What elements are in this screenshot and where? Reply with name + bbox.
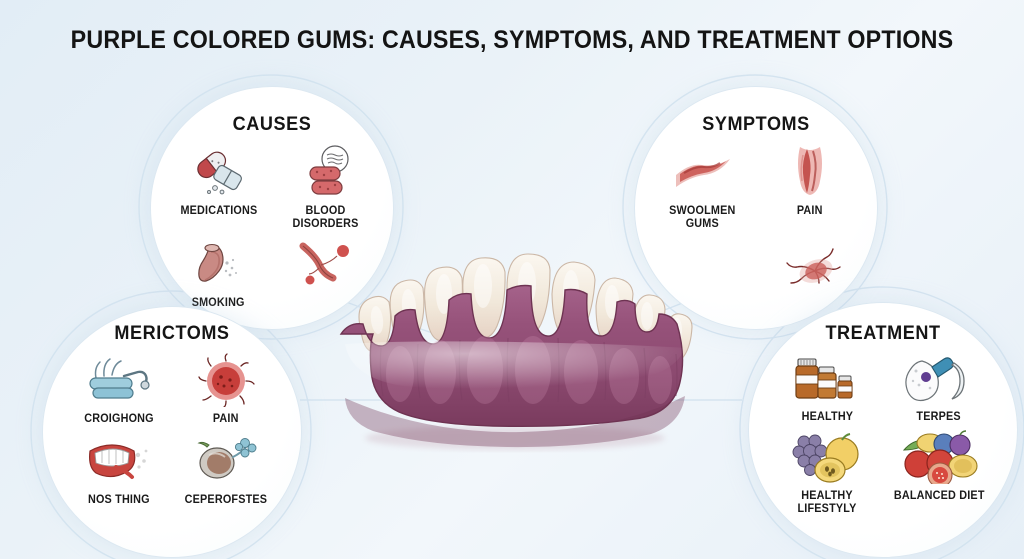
item-healthy-lifestyly[interactable]: HEALTHY LIFESTYLY bbox=[771, 428, 883, 516]
purple-gums-teeth-illustration bbox=[305, 248, 725, 453]
infographic-canvas: PURPLE COLORED GUMS: CAUSES, SYMPTOMS, A… bbox=[0, 0, 1024, 559]
page-title: PURPLE COLORED GUMS: CAUSES, SYMPTOMS, A… bbox=[36, 26, 988, 55]
item-label: CEPEROFSTES bbox=[184, 494, 267, 507]
section-items-merictoms: CROIGHONG bbox=[43, 351, 301, 507]
item-label: NOS THING bbox=[88, 494, 150, 507]
item-blood-disorders[interactable]: BLOOD DISORDERS bbox=[272, 143, 379, 231]
section-title-causes: CAUSES bbox=[157, 114, 387, 136]
cigarette-icon bbox=[191, 235, 247, 293]
item-smoking[interactable]: SMOKING bbox=[165, 235, 272, 310]
item-label: PAIN bbox=[213, 413, 239, 426]
item-croighong[interactable]: CROIGHONG bbox=[65, 351, 172, 426]
item-healthy[interactable]: HEALTHY bbox=[771, 349, 883, 424]
item-label: CROIGHONG bbox=[84, 413, 154, 426]
denture-icon bbox=[86, 432, 152, 490]
blood-cells-icon bbox=[298, 143, 354, 201]
section-title-merictoms: MERICTOMS bbox=[49, 323, 294, 345]
item-label: HEALTHY bbox=[801, 411, 853, 424]
item-nos-thing[interactable]: NOS THING bbox=[65, 432, 172, 507]
mixed-fruit-icon bbox=[900, 428, 978, 486]
item-pain[interactable]: PAIN bbox=[756, 143, 863, 231]
item-swollen-gums[interactable]: SWOOLMEN GUMS bbox=[649, 143, 756, 231]
section-merictoms: MERICTOMS CROIGHONG bbox=[42, 306, 302, 558]
item-label: MEDICATIONS bbox=[180, 205, 257, 218]
section-title-symptoms: SYMPTOMS bbox=[641, 114, 871, 136]
item-label: SMOKING bbox=[192, 297, 245, 310]
inflammation-burst-icon bbox=[197, 351, 255, 409]
item-label: BLOOD DISORDERS bbox=[275, 205, 376, 231]
medicine-bottles-icon bbox=[792, 349, 862, 407]
item-label: BALANCED DIET bbox=[894, 490, 985, 503]
item-terpes[interactable]: TERPES bbox=[883, 349, 995, 424]
item-nerve-pain[interactable] bbox=[756, 235, 863, 297]
item-label: PAIN bbox=[797, 205, 823, 218]
nerve-pain-icon bbox=[775, 235, 845, 293]
section-title-treatment: TREATMENT bbox=[756, 323, 1011, 345]
item-medications[interactable]: MEDICATIONS bbox=[165, 143, 272, 231]
scaling-tool-icon bbox=[84, 351, 154, 409]
inflamed-tissue-icon bbox=[787, 143, 833, 201]
item-ceperofstes[interactable]: CEPEROFSTES bbox=[172, 432, 279, 507]
plaque-seed-icon bbox=[193, 432, 259, 490]
item-label: SWOOLMEN GUMS bbox=[669, 205, 735, 231]
section-items-treatment: HEALTHY TERPES bbox=[749, 349, 1017, 516]
item-label: TERPES bbox=[917, 411, 961, 424]
item-merictoms-pain[interactable]: PAIN bbox=[172, 351, 279, 426]
swollen-gum-icon bbox=[670, 143, 736, 201]
dental-tool-icon bbox=[904, 349, 974, 407]
pills-icon bbox=[191, 143, 247, 201]
section-treatment: TREATMENT bbox=[748, 302, 1018, 558]
item-balanced-diet[interactable]: BALANCED DIET bbox=[883, 428, 995, 516]
item-label: HEALTHY LIFESTYLY bbox=[774, 490, 879, 516]
fruit-grapes-icon bbox=[790, 428, 864, 486]
